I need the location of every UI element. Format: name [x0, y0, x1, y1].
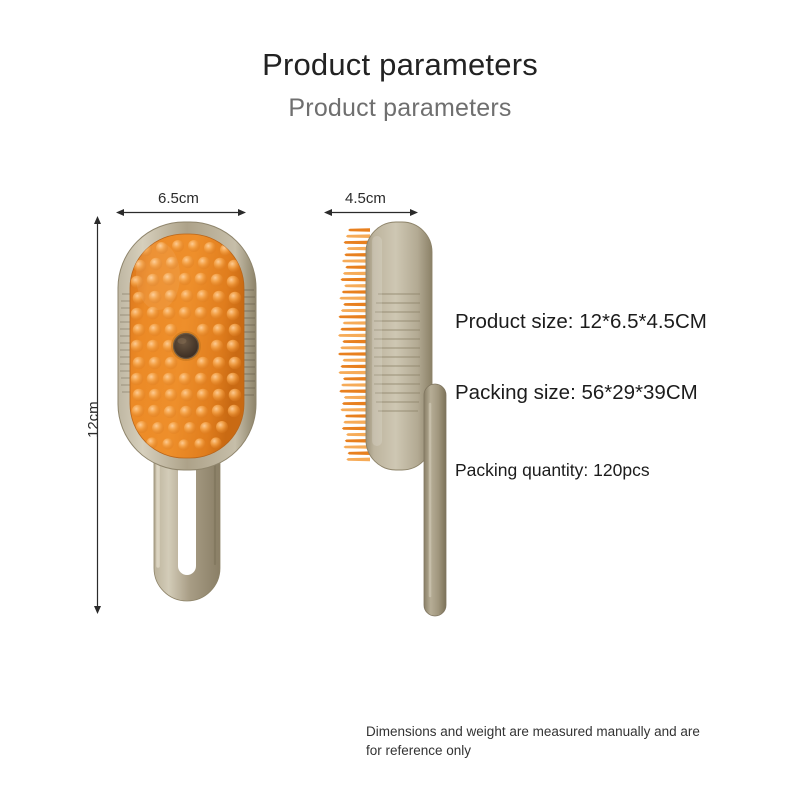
spec-packing-quantity: Packing quantity: 120pcs — [455, 460, 650, 481]
side-handle — [424, 384, 446, 616]
spec-product-size: Product size: 12*6.5*4.5CM — [455, 310, 707, 334]
product-image-front-view — [108, 216, 266, 626]
page-title: Product parameters — [0, 47, 800, 83]
footer-disclaimer: Dimensions and weight are measured manua… — [366, 722, 706, 760]
front-center-hole — [171, 331, 201, 361]
spec-packing-size: Packing size: 56*29*39CM — [455, 381, 698, 405]
dimension-label-front-width: 6.5cm — [158, 190, 199, 207]
side-bristles — [338, 228, 370, 461]
dimension-arrow-front-height — [93, 216, 102, 614]
product-parameters-page: Product parameters Product parameters 6.… — [0, 0, 800, 800]
product-image-side-view — [312, 216, 452, 626]
page-subtitle: Product parameters — [0, 94, 800, 123]
dimension-label-side-width: 4.5cm — [345, 190, 386, 207]
